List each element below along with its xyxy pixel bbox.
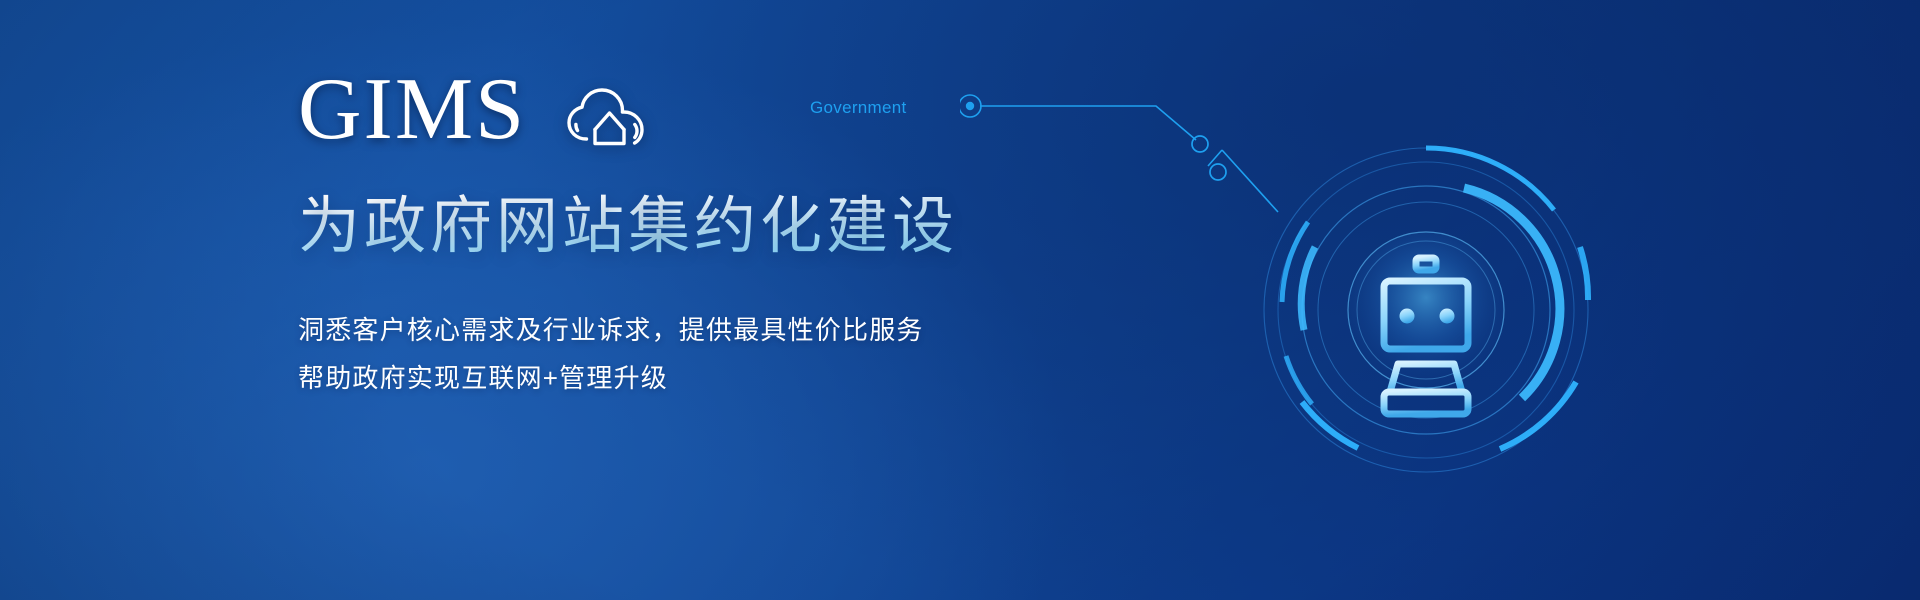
- cloud-upload-icon: [564, 84, 650, 146]
- subtitle-line-2: 帮助政府实现互联网+管理升级: [298, 354, 1058, 402]
- tech-graphic: Government: [960, 0, 1920, 600]
- brand-title: GIMS: [298, 66, 526, 154]
- ring-system: [1264, 148, 1588, 472]
- brand-row: GIMS: [298, 62, 1058, 158]
- robot-icon: [1358, 258, 1494, 414]
- subtitle-line-1: 洞悉客户核心需求及行业诉求，提供最具性价比服务: [298, 306, 1058, 354]
- subtitle-block: 洞悉客户核心需求及行业诉求，提供最具性价比服务 帮助政府实现互联网+管理升级: [298, 306, 1058, 402]
- tech-graphic-svg: [960, 0, 1920, 600]
- hero-banner: Government: [0, 0, 1920, 600]
- circuit-node-upper: [1192, 136, 1208, 152]
- circuit-node-lower: [1210, 164, 1226, 180]
- headline: 为政府网站集约化建设: [298, 192, 1058, 262]
- banner-content: GIMS 为政府网站集约化建设 洞悉客户核心需求及行业诉求，提供最具性价比服务 …: [298, 62, 1058, 402]
